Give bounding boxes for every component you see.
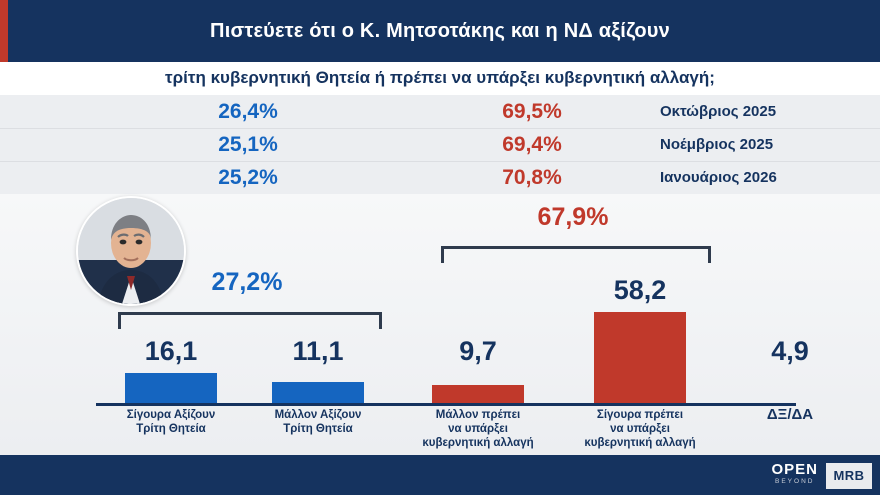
bar-value: 58,2 <box>565 275 715 306</box>
bar-label: Σίγουρα πρέπει να υπάρξει κυβερνητική αλ… <box>555 408 725 450</box>
trend-blue-value: 25,2% <box>148 166 348 190</box>
open-logo-subtext: BEYOND <box>771 477 818 486</box>
trend-red-value: 69,4% <box>432 133 632 157</box>
poll-infographic: Πιστεύετε ότι ο Κ. Μητσοτάκης και η ΝΔ α… <box>0 0 880 495</box>
bar-label: Μάλλον Αξίζουν Τρίτη Θητεία <box>233 408 403 436</box>
bar-label: ΔΞ/ΔΑ <box>705 408 875 422</box>
table-row: 26,4% 69,5% Οκτώβριος 2025 <box>0 95 880 129</box>
bracket-red-group <box>441 246 711 263</box>
bar-rect <box>272 382 364 403</box>
trend-red-value: 70,8% <box>432 166 632 190</box>
page-subtitle: τρίτη κυβερνητική Θητεία ή πρέπει να υπά… <box>0 68 880 88</box>
footer-band <box>0 455 880 495</box>
bar-rect <box>594 312 686 403</box>
table-row: 25,1% 69,4% Νοέμβριος 2025 <box>0 128 880 162</box>
trend-period-label: Νοέμβριος 2025 <box>660 136 860 153</box>
open-logo: OPEN BEYOND <box>771 462 818 486</box>
trend-period-label: Οκτώβριος 2025 <box>660 103 860 120</box>
bar-label: Σίγουρα Αξίζουν Τρίτη Θητεία <box>86 408 256 436</box>
trend-blue-value: 26,4% <box>148 100 348 124</box>
open-logo-text: OPEN <box>771 462 818 477</box>
bar-rect <box>125 373 217 403</box>
bar-value: 16,1 <box>96 336 246 367</box>
bar-label: Μάλλον πρέπει να υπάρξει κυβερνητική αλλ… <box>393 408 563 450</box>
bracket-blue-group <box>118 312 382 329</box>
red-group-percent: 67,9% <box>443 203 703 232</box>
bar-value: 4,9 <box>715 336 865 367</box>
trend-period-label: Ιανουάριος 2026 <box>660 169 860 186</box>
trend-red-value: 69,5% <box>432 100 632 124</box>
bar-rect <box>432 385 524 403</box>
blue-group-percent: 27,2% <box>122 268 372 297</box>
page-title: Πιστεύετε ότι ο Κ. Μητσοτάκης και η ΝΔ α… <box>0 20 880 43</box>
axis-line <box>96 403 796 406</box>
bar-value: 9,7 <box>403 336 553 367</box>
trend-table: 26,4% 69,5% Οκτώβριος 2025 25,1% 69,4% Ν… <box>0 95 880 194</box>
table-row: 25,2% 70,8% Ιανουάριος 2026 <box>0 161 880 194</box>
trend-blue-value: 25,1% <box>148 133 348 157</box>
mrb-logo: MRB <box>826 463 872 489</box>
bar-value: 11,1 <box>243 336 393 367</box>
